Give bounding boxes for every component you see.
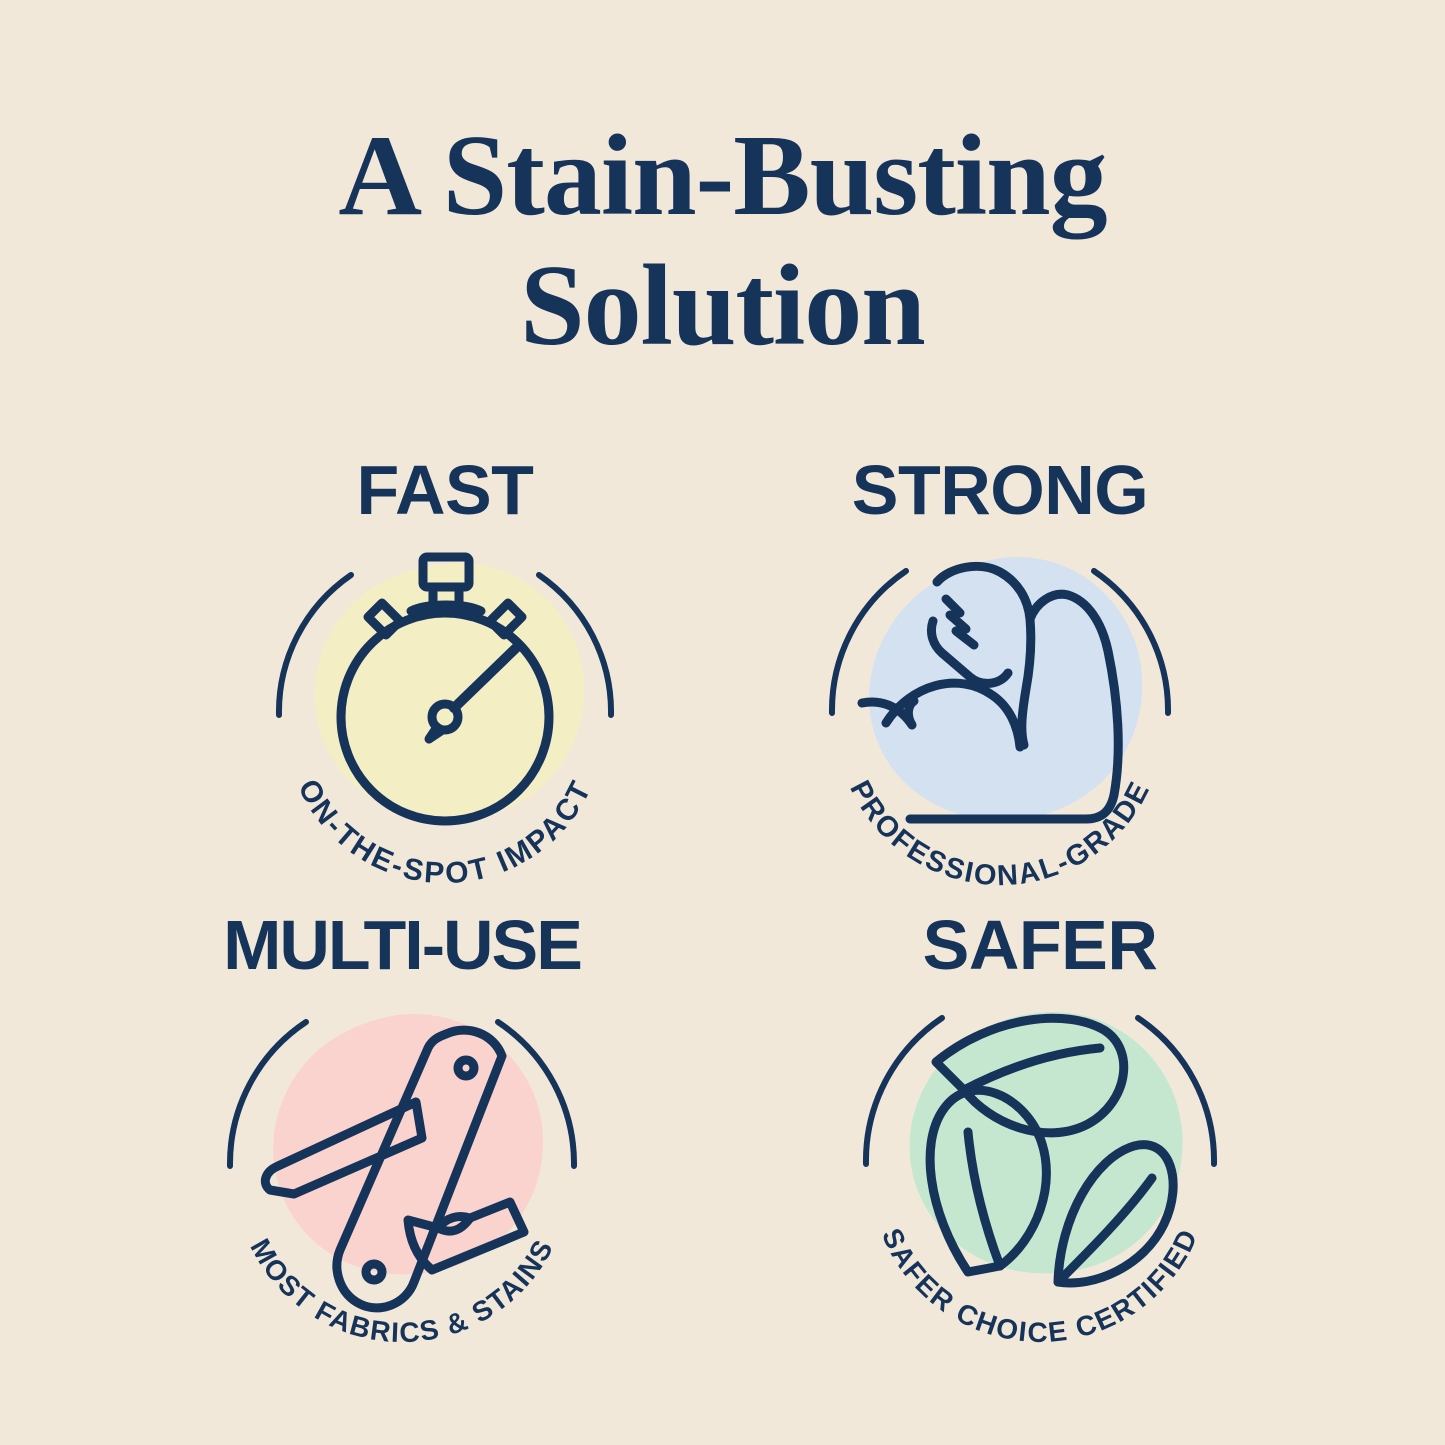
page-title: A Stain-Busting Solution bbox=[0, 112, 1445, 372]
badge-art-strong: PROFESSIONAL-GRADE bbox=[800, 527, 1200, 907]
promo-graphic: A Stain-Busting Solution FAST bbox=[0, 0, 1445, 1445]
badge-label-strong: STRONG bbox=[770, 455, 1230, 525]
badge-label-multi-use: MULTI-USE bbox=[172, 910, 632, 980]
badge-label-fast: FAST bbox=[215, 455, 675, 525]
badge-blob-strong bbox=[869, 557, 1142, 820]
badge-art-multi-use: MOST FABRICS & STAINS bbox=[202, 982, 602, 1362]
page-title-line-1: A Stain-Busting bbox=[0, 112, 1445, 242]
benefit-badge-safer: SAFER bbox=[810, 910, 1270, 1360]
page-title-line-2: Solution bbox=[0, 242, 1445, 372]
benefit-badge-strong: STRONG bbox=[770, 455, 1230, 905]
benefit-badge-grid: FAST bbox=[0, 455, 1445, 1395]
badge-art-fast: ON-THE-SPOT IMPACT bbox=[245, 527, 645, 907]
badge-art-safer: SAFER CHOICE CERTIFIED bbox=[840, 982, 1240, 1362]
benefit-badge-fast: FAST bbox=[215, 455, 675, 905]
benefit-badge-multi-use: MULTI-USE bbox=[172, 910, 632, 1360]
badge-label-safer: SAFER bbox=[810, 910, 1270, 980]
